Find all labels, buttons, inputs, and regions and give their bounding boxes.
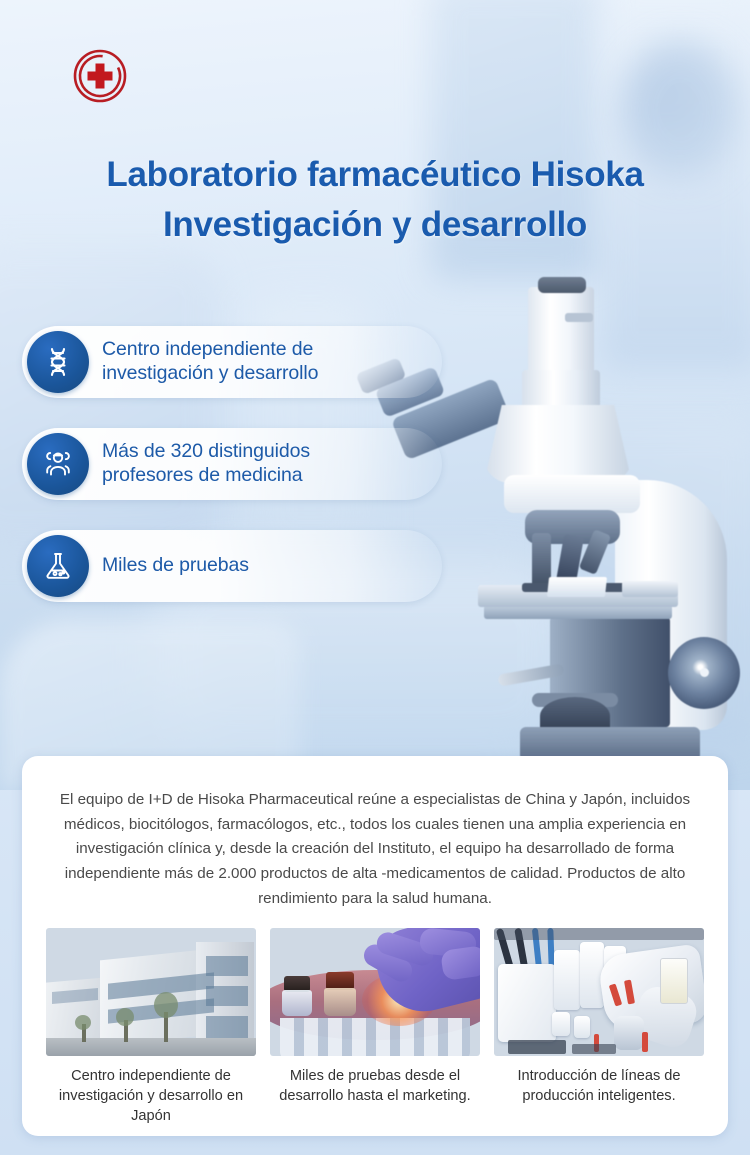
feature-line-1: Centro independiente de: [102, 338, 318, 362]
modern-office-building-photo: [46, 928, 256, 1056]
title-line-1: Laboratorio farmacéutico Hisoka: [106, 155, 643, 194]
feature-list: Centro independiente de investigación y …: [22, 326, 442, 632]
flask-icon: [27, 535, 89, 597]
microscope-illustration: [400, 265, 750, 765]
feature-line-1: Miles de pruebas: [102, 554, 249, 578]
dna-helix-icon: [27, 331, 89, 393]
medical-cross-emblem-icon: [72, 48, 128, 104]
feature-item-label: Miles de pruebas: [102, 554, 249, 578]
thumbnail-gallery: Centro independiente de investigación y …: [46, 928, 704, 1126]
feature-line-1: Más de 320 distinguidos: [102, 440, 310, 464]
thumbnail-caption: Introducción de líneas de producción int…: [494, 1066, 704, 1106]
feature-item-label: Más de 320 distinguidos profesores de me…: [102, 440, 310, 488]
thumbnail-caption: Centro independiente de investigación y …: [46, 1066, 256, 1126]
feature-item-tests[interactable]: Miles de pruebas: [22, 530, 442, 602]
feature-line-2: investigación y desarrollo: [102, 362, 318, 386]
thumbnail-item[interactable]: Introducción de líneas de producción int…: [494, 928, 704, 1126]
thumbnail-item[interactable]: Miles de pruebas desde el desarrollo has…: [270, 928, 480, 1126]
thumbnail-item[interactable]: Centro independiente de investigación y …: [46, 928, 256, 1126]
medical-team-icon: [27, 433, 89, 495]
promo-page: Laboratorio farmacéutico Hisoka Investig…: [0, 0, 750, 1155]
lab-vials-gloved-hand-photo: [270, 928, 480, 1056]
title-line-2: Investigación y desarrollo: [0, 200, 750, 250]
robotic-production-line-photo: [494, 928, 704, 1056]
feature-line-2: profesores de medicina: [102, 464, 310, 488]
description-paragraph: El equipo de I+D de Hisoka Pharmaceutica…: [52, 788, 698, 911]
thumbnail-caption: Miles de pruebas desde el desarrollo has…: [270, 1066, 480, 1106]
page-title: Laboratorio farmacéutico Hisoka Investig…: [0, 150, 750, 249]
info-card: El equipo de I+D de Hisoka Pharmaceutica…: [22, 756, 728, 1136]
feature-item-label: Centro independiente de investigación y …: [102, 338, 318, 386]
feature-item-research-center[interactable]: Centro independiente de investigación y …: [22, 326, 442, 398]
feature-item-professors[interactable]: Más de 320 distinguidos profesores de me…: [22, 428, 442, 500]
hero-section: Laboratorio farmacéutico Hisoka Investig…: [0, 0, 750, 790]
